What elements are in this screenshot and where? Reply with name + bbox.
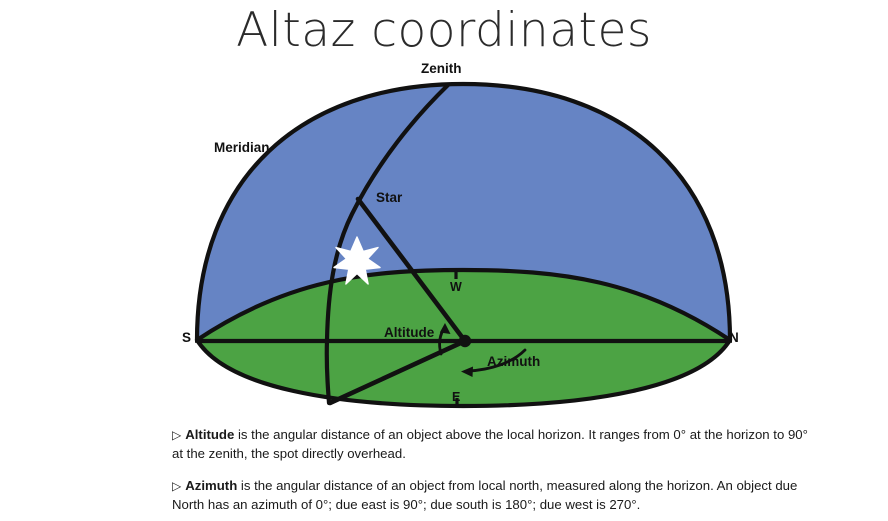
caption-term-altitude: Altitude bbox=[185, 427, 234, 442]
label-star: Star bbox=[376, 191, 402, 205]
observer-dot-icon bbox=[459, 335, 471, 347]
caption-text-altitude: is the angular distance of an object abo… bbox=[172, 427, 808, 461]
label-zenith: Zenith bbox=[421, 62, 462, 76]
caption-azimuth: ▷Azimuth is the angular distance of an o… bbox=[172, 477, 812, 514]
caption-list: ▷Altitude is the angular distance of an … bbox=[172, 426, 812, 515]
label-east: E bbox=[452, 391, 460, 404]
caption-term-azimuth: Azimuth bbox=[185, 478, 237, 493]
caption-altitude: ▷Altitude is the angular distance of an … bbox=[172, 426, 812, 463]
label-meridian: Meridian bbox=[214, 141, 270, 155]
label-altitude: Altitude bbox=[384, 326, 434, 340]
label-azimuth: Azimuth bbox=[487, 355, 540, 369]
diagram-page: Altaz coordinates bbox=[0, 0, 888, 521]
label-south: S bbox=[182, 331, 191, 345]
altaz-diagram-svg bbox=[0, 58, 888, 418]
label-west: W bbox=[450, 281, 462, 294]
bullet-triangle-icon: ▷ bbox=[172, 479, 181, 493]
label-north: N bbox=[729, 331, 739, 345]
bullet-triangle-icon: ▷ bbox=[172, 428, 181, 442]
caption-text-azimuth: is the angular distance of an object fro… bbox=[172, 478, 797, 512]
page-title: Altaz coordinates bbox=[0, 6, 888, 55]
